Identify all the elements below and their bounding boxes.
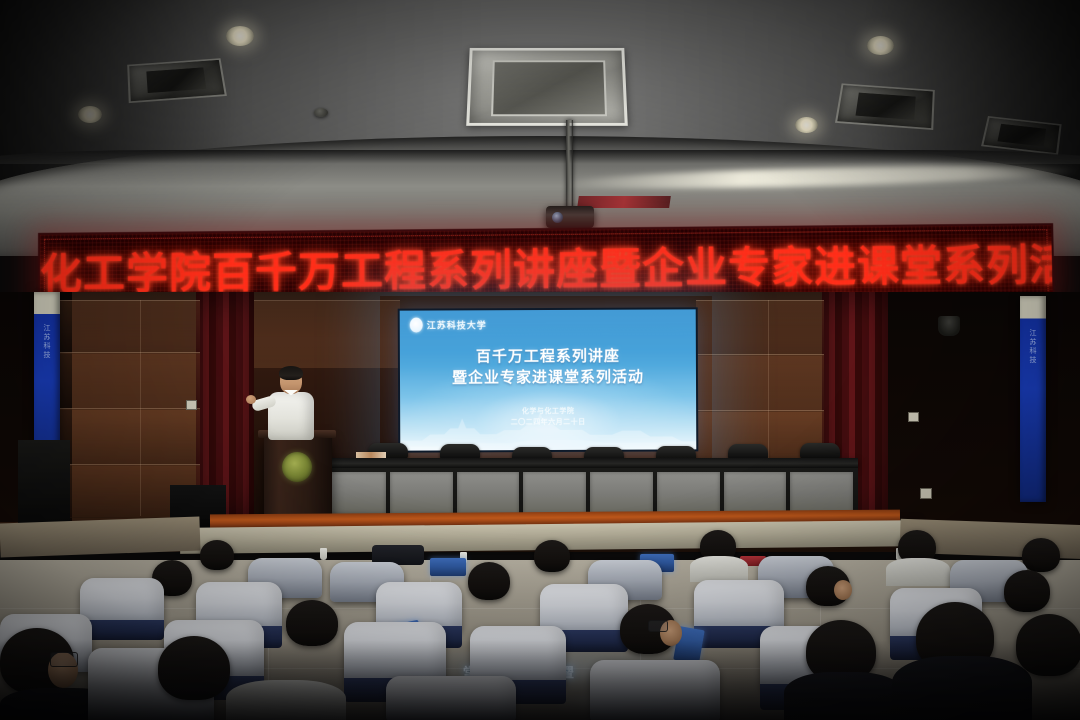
wall-socket[interactable] <box>186 400 197 410</box>
wall-speaker <box>938 316 960 336</box>
lectern-emblem-icon <box>282 452 312 482</box>
attendee-head <box>1022 538 1060 572</box>
table-panel <box>724 472 787 514</box>
table-panel <box>523 472 586 514</box>
eyeglasses <box>648 620 668 632</box>
wall-socket[interactable] <box>908 412 919 422</box>
table-panel <box>790 472 853 514</box>
auditorium-seat[interactable] <box>694 580 784 632</box>
projector-lens-icon <box>552 212 563 223</box>
cup <box>320 548 327 560</box>
led-banner-text: 化工学院百千万工程系列讲座暨企业专家进课堂系列活动 <box>40 231 1053 302</box>
head-table-top <box>318 458 858 468</box>
attendee-head <box>468 562 510 600</box>
table-panel <box>657 472 720 514</box>
auditorium-seat[interactable] <box>80 578 164 626</box>
projector-mount-pole <box>566 120 573 212</box>
wall-seam <box>140 300 141 516</box>
wall-socket[interactable] <box>920 488 932 499</box>
wall-panel <box>58 408 200 466</box>
screen-glare <box>400 309 697 450</box>
attendee-face <box>834 580 852 600</box>
table-panel <box>390 472 453 514</box>
attendee-shoulders <box>690 556 748 582</box>
floor-speaker <box>18 440 70 532</box>
projection-screen: 江苏科技大学 百千万工程系列讲座 暨企业专家进课堂系列活动 化学与化工学院 二〇… <box>398 307 699 452</box>
table-panel <box>457 472 520 514</box>
stage-chair[interactable] <box>800 443 840 459</box>
stage-riser <box>0 517 201 558</box>
soffit-lip <box>0 150 1080 164</box>
attendee-head <box>1004 570 1050 612</box>
wall-recess-right <box>888 292 1080 528</box>
column-label: 江苏科技 <box>1020 329 1046 365</box>
attendee-head <box>200 540 234 570</box>
wall-panel <box>58 300 200 354</box>
foreground-shadow <box>0 640 1080 720</box>
table-panel <box>323 472 386 514</box>
wall-panel <box>254 300 400 370</box>
presenter-hand <box>246 395 256 404</box>
attendee-shoulders <box>886 558 950 586</box>
column-label: 江苏科技 <box>34 324 60 360</box>
wall-panel <box>58 352 200 410</box>
lecture-hall-photo: 化工学院百千万工程系列讲座暨企业专家进课堂系列活动 江苏科技 江苏科技 <box>0 0 1080 720</box>
wall-column-right: 江苏科技 <box>1020 296 1046 502</box>
tablet-screen[interactable] <box>430 558 466 576</box>
table-panel <box>590 472 653 514</box>
auditorium-seat-base <box>80 620 164 640</box>
presenter-hair <box>279 366 303 380</box>
attendee-head <box>534 540 570 572</box>
table-documents <box>356 452 386 458</box>
wall-panel <box>696 354 824 412</box>
wall-panel <box>696 300 824 356</box>
